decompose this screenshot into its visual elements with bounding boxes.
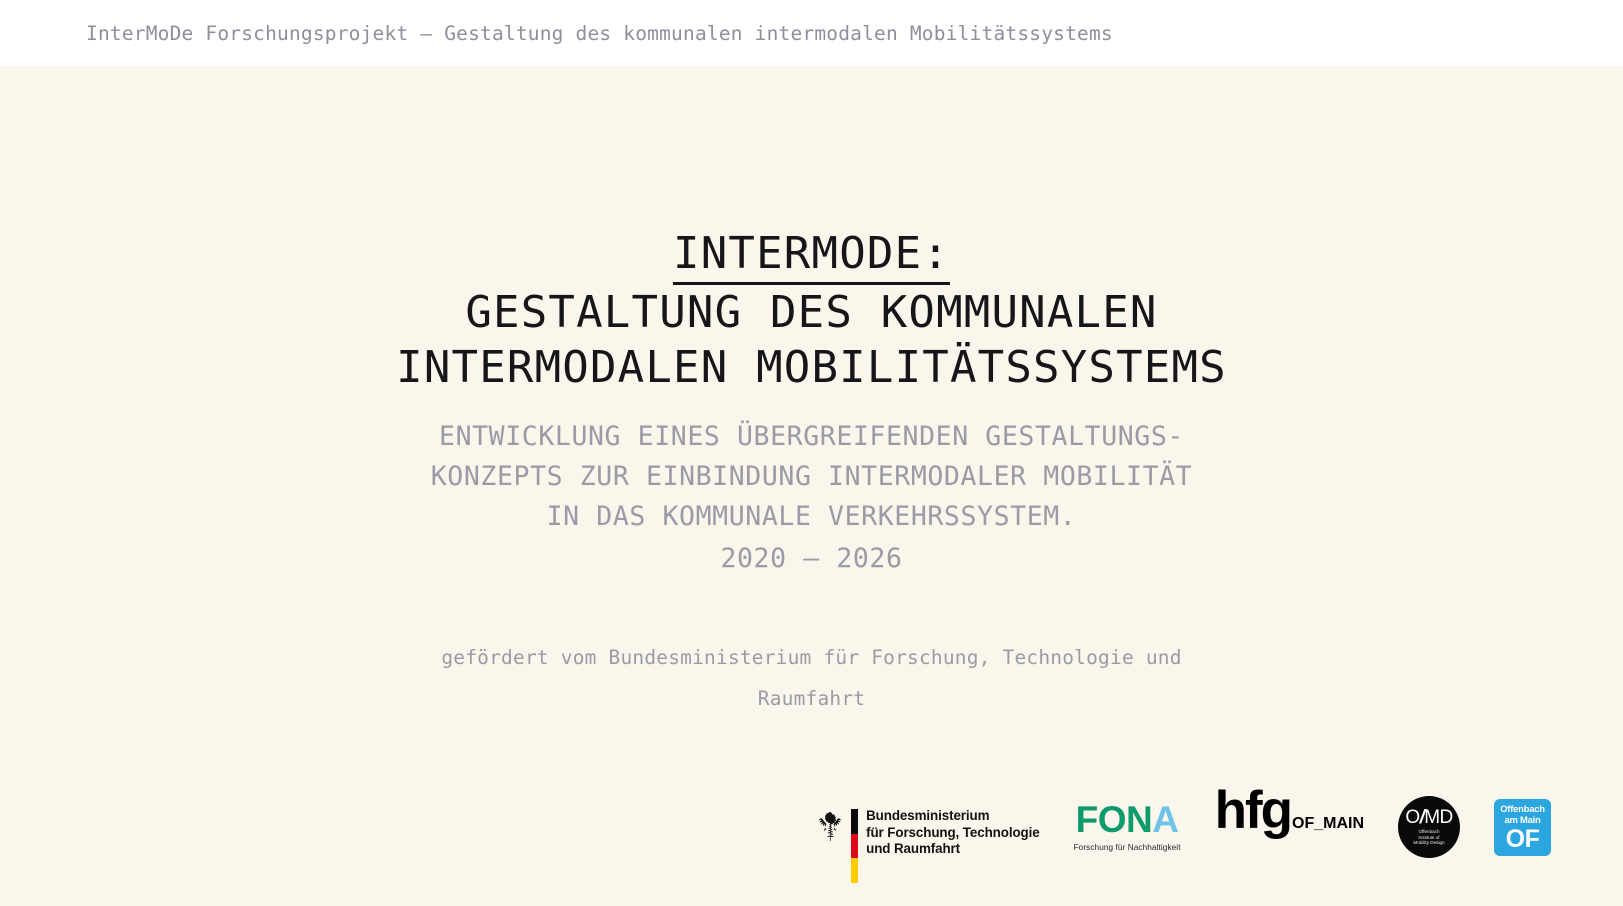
fona-a-text: A [1152,799,1178,840]
page-subtitle: ENTWICKLUNG EINES ÜBERGREIFENDEN GESTALT… [0,417,1623,579]
omd-subtitle: Offenbach Institute of Mobility Design [1413,829,1444,846]
subtitle-line-3: IN DAS KOMMUNALE VERKEHRSSYSTEM. [0,497,1623,537]
omd-circle-mark: O/MD Offenbach Institute of Mobility Des… [1398,796,1460,858]
omd-sub-line-3: Mobility Design [1413,840,1444,846]
project-years: 2020 – 2026 [0,539,1623,579]
bmbf-text-line-2: für Forschung, Technologie [866,825,1039,842]
offenbach-line-1: Offenbach [1500,804,1545,814]
bmbf-logo-text: Bundesministerium für Forschung, Technol… [865,808,1039,858]
top-header-bar: InterMoDe Forschungsprojekt – Gestaltung… [0,0,1623,66]
partner-logo-row: Bundesministerium für Forschung, Technol… [816,784,1551,870]
bmbf-text-line-3: und Raumfahrt [866,841,1039,858]
subtitle-line-2: KONZEPTS ZUR EINBINDUNG INTERMODALER MOB… [0,457,1623,497]
funding-line-2: Raumfahrt [0,678,1623,719]
german-flag-bar [851,809,858,883]
federal-eagle-icon [816,811,844,841]
funding-line-1: gefördert vom Bundesministerium für Fors… [0,637,1623,678]
offenbach-city-name: Offenbach am Main [1500,804,1545,824]
hfg-main-text: hfg [1215,784,1291,837]
omd-o-text: O [1405,807,1419,828]
fona-wordmark: FONA [1076,801,1179,838]
page-title: INTERMODE: GESTALTUNG DES KOMMUNALEN INT… [0,226,1623,395]
header-project-title: InterMoDe Forschungsprojekt – Gestaltung… [86,22,1113,45]
hfg-wordmark: hfg OF_MAIN [1215,784,1364,837]
fona-tagline: Forschung für Nachhaltigkeit [1074,842,1181,854]
offenbach-badge: Offenbach am Main OF [1494,799,1551,856]
subtitle-line-1: ENTWICKLUNG EINES ÜBERGREIFENDEN GESTALT… [0,417,1623,457]
offenbach-line-2: am Main [1500,815,1545,825]
flag-stripe-red [851,834,858,859]
funding-note: gefördert vom Bundesministerium für Fors… [0,637,1623,719]
fona-logo: FONA Forschung für Nachhaltigkeit [1074,784,1181,870]
bmbf-logo-inner: Bundesministerium für Forschung, Technol… [816,808,1039,883]
hero-section: INTERMODE: GESTALTUNG DES KOMMUNALEN INT… [0,66,1623,719]
bmbf-logo: Bundesministerium für Forschung, Technol… [816,784,1039,870]
hfg-sub-text: OF_MAIN [1292,816,1364,832]
omd-sub-line-1: Offenbach [1413,829,1444,835]
bmbf-text-line-1: Bundesministerium [866,808,1039,825]
flag-stripe-gold [851,858,858,883]
omd-logo: O/MD Offenbach Institute of Mobility Des… [1398,784,1460,870]
flag-stripe-black [851,809,858,834]
title-line-1-wrapper: INTERMODE: [0,226,1623,285]
omd-wordmark: O/MD [1405,808,1452,827]
title-line-2: GESTALTUNG DES KOMMUNALEN [0,285,1623,340]
omd-md-text: MD [1424,807,1452,828]
presentation-slide: InterMoDe Forschungsprojekt – Gestaltung… [0,0,1623,906]
offenbach-am-main-logo: Offenbach am Main OF [1494,784,1551,870]
title-line-3: INTERMODALEN MOBILITÄTSSYSTEMS [0,340,1623,395]
hfg-offenbach-logo: hfg OF_MAIN [1215,784,1364,870]
fona-fon-text: FON [1076,799,1153,840]
title-line-1: INTERMODE: [673,226,950,285]
slide-content: INTERMODE: GESTALTUNG DES KOMMUNALEN INT… [0,66,1623,906]
offenbach-abbrev: OF [1506,827,1540,852]
